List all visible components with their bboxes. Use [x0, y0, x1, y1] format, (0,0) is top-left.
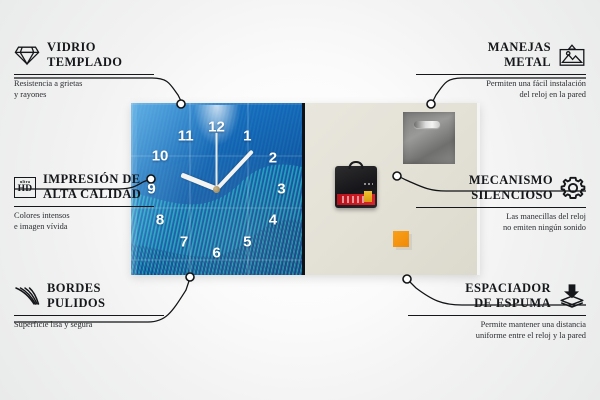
- callout-desc-line: Las manecillas del reloj: [416, 211, 586, 222]
- infographic-canvas: 12 1 2 3 4 5 6 7 8 9 10 11: [0, 0, 600, 400]
- callout-heading: BORDES PULIDOS: [14, 281, 164, 312]
- picture-hanger-icon: [558, 44, 586, 67]
- clock-numeral: 3: [277, 182, 285, 197]
- clock-numeral: 2: [269, 151, 277, 166]
- hanger-slot: [414, 121, 440, 128]
- polished-edges-icon: [14, 285, 40, 307]
- diamond-icon: [14, 44, 40, 66]
- mechanism-label: [337, 194, 375, 205]
- callout-mecanismo-silencioso: MECANISMO SILENCIOSO Las manecillas del …: [416, 173, 586, 233]
- callout-title-line: DE ESPUMA: [465, 296, 551, 311]
- callout-desc-line: y rayones: [14, 89, 154, 100]
- clock-mechanism: [335, 166, 377, 208]
- clock-numeral: 5: [243, 235, 251, 250]
- clock-numeral: 10: [152, 149, 169, 164]
- mechanism-chip: [364, 191, 372, 202]
- callout-desc-line: Colores intensos: [14, 210, 154, 221]
- callout-desc-line: no emiten ningún sonido: [416, 222, 586, 233]
- callout-divider: [408, 315, 586, 316]
- callout-desc-line: Superficie lisa y segura: [14, 319, 164, 330]
- callout-divider: [416, 74, 586, 75]
- callout-title-line: SILENCIOSO: [469, 188, 553, 203]
- mechanism-detail: [363, 182, 373, 186]
- clock-front-face: 12 1 2 3 4 5 6 7 8 9 10 11: [131, 103, 305, 275]
- callout-title-line: IMPRESIÓN DE: [43, 172, 141, 187]
- clock-numeral: 7: [180, 235, 188, 250]
- callout-manejas-metal: MANEJAS METAL Permiten una fácil instala…: [416, 40, 586, 100]
- callout-title-line: TEMPLADO: [47, 55, 122, 70]
- callout-desc-line: Resistencia a grietas: [14, 78, 154, 89]
- callout-heading: MANEJAS METAL: [416, 40, 586, 71]
- clock-numeral: 6: [212, 245, 220, 260]
- ultra-hd-icon: ultra HD: [14, 177, 36, 198]
- clock-center-cap: [213, 186, 220, 193]
- callout-divider: [14, 315, 164, 316]
- callout-heading: ESPACIADOR DE ESPUMA: [408, 281, 586, 312]
- clock-numeral: 11: [178, 128, 194, 143]
- callout-desc-line: e imagen vívida: [14, 221, 154, 232]
- callout-heading: ultra HD IMPRESIÓN DE ALTA CALIDAD: [14, 172, 154, 203]
- callout-title-line: ESPACIADOR: [465, 281, 551, 296]
- foam-spacer: [393, 231, 409, 247]
- callout-desc-line: Permiten una fácil instalación: [416, 78, 586, 89]
- callout-title-line: METAL: [488, 55, 551, 70]
- callout-desc-line: Permite mantener una distancia: [408, 319, 586, 330]
- callout-vidrio-templado: VIDRIO TEMPLADO Resistencia a grietas y …: [14, 40, 154, 100]
- callout-divider: [14, 74, 154, 75]
- callout-divider: [416, 207, 586, 208]
- callout-espaciador-espuma: ESPACIADOR DE ESPUMA Permite mantener un…: [408, 281, 586, 341]
- callout-title-line: MANEJAS: [488, 40, 551, 55]
- clock-numeral: 4: [269, 212, 277, 227]
- gear-icon: [560, 176, 586, 200]
- callout-desc-line: del reloj en la pared: [416, 89, 586, 100]
- callout-impresion-alta-calidad: ultra HD IMPRESIÓN DE ALTA CALIDAD Color…: [14, 172, 154, 232]
- callout-heading: VIDRIO TEMPLADO: [14, 40, 154, 71]
- callout-title-line: ALTA CALIDAD: [43, 187, 141, 202]
- callout-title-line: MECANISMO: [469, 173, 553, 188]
- metal-hanger-plate: [403, 112, 455, 164]
- callout-desc-line: uniforme entre el reloj y la pared: [408, 330, 586, 341]
- foam-spacer-icon: [558, 283, 586, 309]
- callout-title-line: PULIDOS: [47, 296, 105, 311]
- clock-numeral: 8: [156, 212, 164, 227]
- mechanism-hook: [349, 161, 364, 169]
- callout-title-line: VIDRIO: [47, 40, 122, 55]
- callout-divider: [14, 206, 154, 207]
- clock-second-hand: [216, 133, 218, 193]
- callout-title-line: BORDES: [47, 281, 105, 296]
- ultra-hd-icon-main: HD: [18, 185, 33, 195]
- clock-numeral: 1: [243, 128, 251, 143]
- callout-heading: MECANISMO SILENCIOSO: [416, 173, 586, 204]
- callout-bordes-pulidos: BORDES PULIDOS Superficie lisa y segura: [14, 281, 164, 330]
